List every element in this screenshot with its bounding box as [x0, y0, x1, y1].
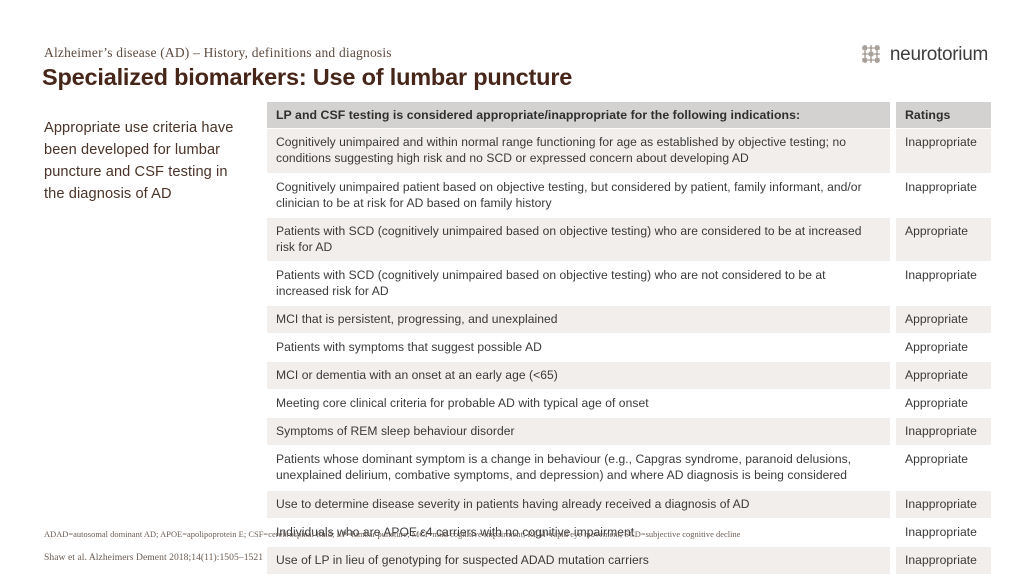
table-row[interactable]: Patients with SCD (cognitively unimpaire… [267, 262, 991, 305]
cell-rating: Inappropriate [896, 519, 991, 546]
cell-rating: Appropriate [896, 362, 991, 389]
status-badge: Appropriate [905, 367, 983, 383]
status-badge: Inappropriate [905, 423, 983, 439]
cell-indication-text: Patients with SCD (cognitively unimpaire… [276, 267, 881, 299]
status-badge: Appropriate [905, 223, 983, 239]
footnote-reference: Shaw et al. Alzheimers Dement 2018;14(11… [44, 552, 263, 563]
cell-indication-text: Symptoms of REM sleep behaviour disorder [276, 423, 881, 439]
table-row[interactable]: Symptoms of REM sleep behaviour disorder… [267, 418, 991, 445]
status-badge: Inappropriate [905, 134, 983, 150]
cell-indication: Use to determine disease severity in pat… [267, 491, 890, 518]
cell-rating: Appropriate [896, 390, 991, 417]
cell-indication: Patients whose dominant symptom is a cha… [267, 446, 890, 489]
cell-indication-text: Patients with symptoms that suggest poss… [276, 339, 881, 355]
cell-indication-text: Cognitively unimpaired and within normal… [276, 134, 881, 166]
cell-rating: Inappropriate [896, 129, 991, 172]
cell-indication: Patients with SCD (cognitively unimpaire… [267, 262, 890, 305]
table-row[interactable]: Use of LP in lieu of genotyping for susp… [267, 547, 991, 574]
page-title: Specialized biomarkers: Use of lumbar pu… [42, 64, 572, 91]
table-row[interactable]: Patients with symptoms that suggest poss… [267, 334, 991, 361]
cell-indication: MCI or dementia with an onset at an earl… [267, 362, 890, 389]
column-header-rating-label: Ratings [905, 107, 983, 123]
slide-eyebrow: Alzheimer’s disease (AD) – History, defi… [44, 45, 392, 61]
cell-indication-text: MCI or dementia with an onset at an earl… [276, 367, 881, 383]
cell-indication-text: Meeting core clinical criteria for proba… [276, 395, 881, 411]
cell-indication-text: Cognitively unimpaired patient based on … [276, 179, 881, 211]
cell-indication: Patients with SCD (cognitively unimpaire… [267, 218, 890, 261]
cell-rating: Inappropriate [896, 491, 991, 518]
table-row[interactable]: Use to determine disease severity in pat… [267, 491, 991, 518]
cell-indication: Use of LP in lieu of genotyping for susp… [267, 547, 890, 574]
slide-caption: Appropriate use criteria have been devel… [44, 118, 244, 206]
column-header-indication: LP and CSF testing is considered appropr… [267, 102, 890, 128]
table-row[interactable]: MCI or dementia with an onset at an earl… [267, 362, 991, 389]
brand-name: neurotorium [890, 45, 988, 64]
table-body: Cognitively unimpaired and within normal… [267, 128, 991, 576]
cell-rating: Inappropriate [896, 547, 991, 574]
cell-rating: Appropriate [896, 446, 991, 489]
column-header-indication-label: LP and CSF testing is considered appropr… [276, 107, 881, 123]
cell-indication: Cognitively unimpaired patient based on … [267, 174, 890, 217]
table-row[interactable]: Patients whose dominant symptom is a cha… [267, 446, 991, 489]
status-badge: Appropriate [905, 311, 983, 327]
indications-table: LP and CSF testing is considered appropr… [267, 102, 991, 576]
column-header-rating: Ratings [896, 102, 991, 128]
cell-indication: Meeting core clinical criteria for proba… [267, 390, 890, 417]
table-row[interactable]: Cognitively unimpaired patient based on … [267, 174, 991, 217]
cell-indication-text: Use to determine disease severity in pat… [276, 496, 881, 512]
table-row[interactable]: MCI that is persistent, progressing, and… [267, 306, 991, 333]
status-badge: Inappropriate [905, 496, 983, 512]
cell-indication: MCI that is persistent, progressing, and… [267, 306, 890, 333]
cell-rating: Inappropriate [896, 418, 991, 445]
status-badge: Inappropriate [905, 267, 983, 283]
cell-indication: Cognitively unimpaired and within normal… [267, 129, 890, 172]
status-badge: Inappropriate [905, 552, 983, 568]
lattice-grid-icon [859, 42, 883, 66]
table-row[interactable]: Patients with SCD (cognitively unimpaire… [267, 218, 991, 261]
cell-rating: Appropriate [896, 218, 991, 261]
status-badge: Inappropriate [905, 179, 983, 195]
cell-indication-text: MCI that is persistent, progressing, and… [276, 311, 881, 327]
status-badge: Inappropriate [905, 524, 983, 540]
table-header-row: LP and CSF testing is considered appropr… [267, 102, 991, 128]
cell-indication: Symptoms of REM sleep behaviour disorder [267, 418, 890, 445]
footnote-abbreviations: ADAD=autosomal dominant AD; APOE=apolipo… [44, 530, 741, 539]
table-row[interactable]: Cognitively unimpaired and within normal… [267, 129, 991, 172]
cell-indication-text: Use of LP in lieu of genotyping for susp… [276, 552, 881, 568]
status-badge: Appropriate [905, 451, 983, 467]
status-badge: Appropriate [905, 339, 983, 355]
cell-rating: Appropriate [896, 334, 991, 361]
cell-indication: Patients with symptoms that suggest poss… [267, 334, 890, 361]
table-row[interactable]: Meeting core clinical criteria for proba… [267, 390, 991, 417]
slide-root: Alzheimer’s disease (AD) – History, defi… [0, 0, 1024, 576]
cell-indication-text: Patients whose dominant symptom is a cha… [276, 451, 881, 483]
cell-rating: Inappropriate [896, 262, 991, 305]
status-badge: Appropriate [905, 395, 983, 411]
cell-indication-text: Patients with SCD (cognitively unimpaire… [276, 223, 881, 255]
brand-logo: neurotorium [859, 42, 988, 66]
cell-rating: Appropriate [896, 306, 991, 333]
cell-rating: Inappropriate [896, 174, 991, 217]
